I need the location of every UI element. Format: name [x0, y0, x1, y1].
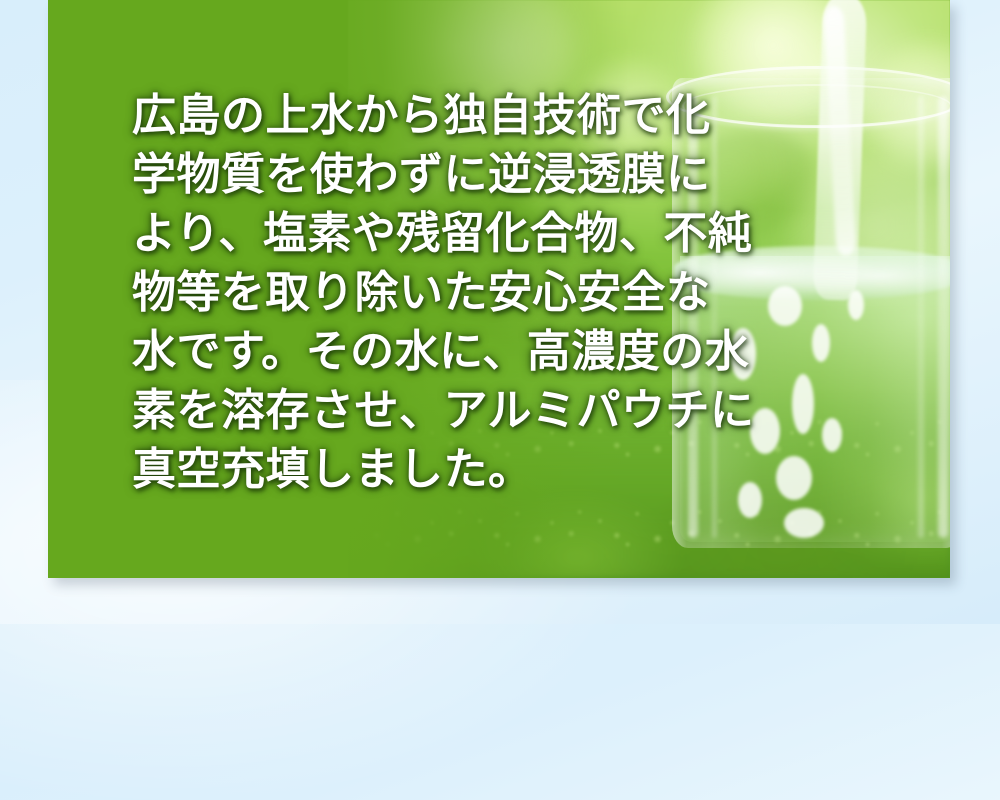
water-wisp [822, 418, 842, 452]
water-wisp [812, 324, 830, 362]
description-line: 水です。その水に、高濃度の水 [132, 322, 692, 381]
glass-highlight [938, 96, 948, 538]
water-wisp [848, 290, 864, 320]
bokeh-highlight [858, 40, 950, 170]
bokeh-highlight [688, 0, 858, 120]
description-text-block: 広島の上水から独自技術で化 学物質を使わずに逆浸透膜に より、塩素や残留化合物、… [132, 86, 692, 499]
glass-highlight [918, 96, 924, 538]
pouring-water-stream-highlight [823, 6, 856, 257]
screenshot-stage: 広島の上水から独自技術で化 学物質を使わずに逆浸透膜に より、塩素や残留化合物、… [0, 0, 1000, 624]
bokeh-highlight [778, 150, 950, 300]
glass-rim-inner [682, 84, 950, 128]
description-line: 素を溶存させ、アルミパウチに [132, 381, 692, 440]
description-line: 広島の上水から独自技術で化 [132, 86, 692, 145]
description-line: 物等を取り除いた安心安全な [132, 263, 692, 322]
glass-body [672, 78, 950, 548]
product-description-banner: 広島の上水から独自技術で化 学物質を使わずに逆浸透膜に より、塩素や残留化合物、… [48, 0, 950, 578]
water-wisp [776, 456, 812, 500]
pouring-water-stream [813, 0, 868, 301]
water-wisp [784, 508, 824, 538]
water-wisp [738, 482, 762, 518]
glass-tumbler [672, 78, 950, 548]
description-line: 学物質を使わずに逆浸透膜に [132, 145, 692, 204]
water-wisp [792, 374, 814, 434]
description-line: より、塩素や残留化合物、不純 [132, 204, 692, 263]
water-wisp [768, 286, 802, 326]
description-line: 真空充填しました。 [132, 440, 692, 499]
glass-highlight [712, 96, 717, 538]
